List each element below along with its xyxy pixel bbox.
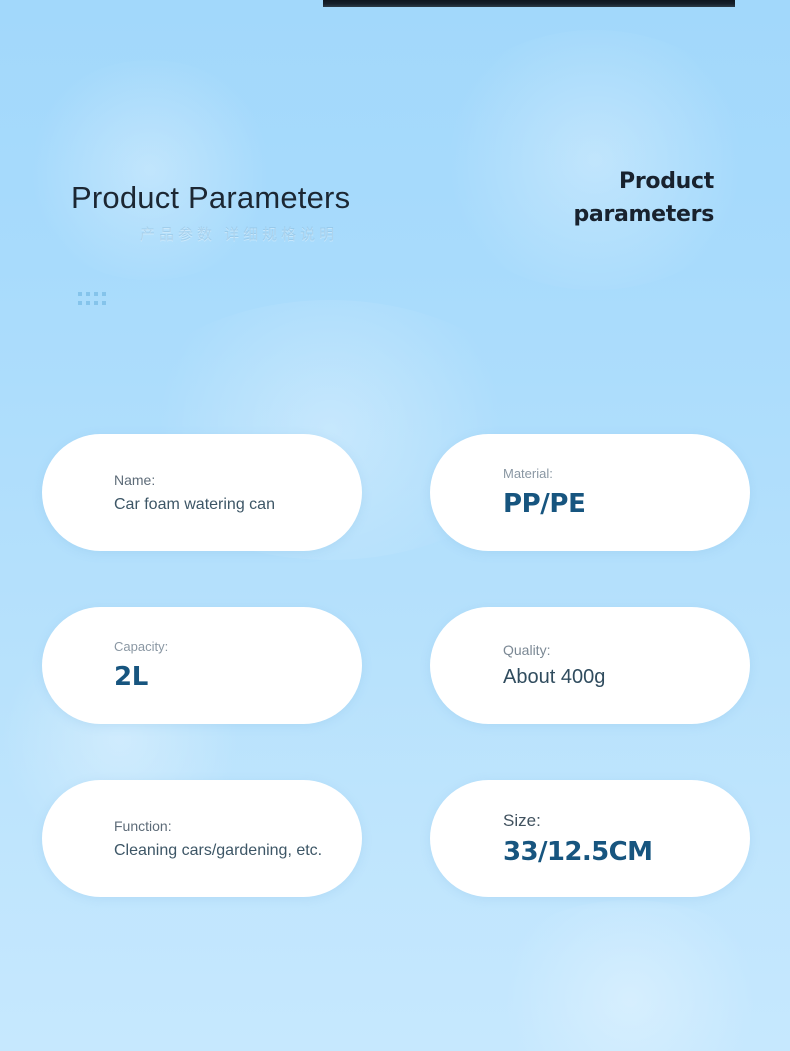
parameter-card: Size:33/12.5CM bbox=[430, 780, 750, 897]
section-subtitle-line-1: Product bbox=[619, 169, 714, 194]
parameter-label: Material: bbox=[503, 466, 750, 481]
section-subtitle: Product parameters bbox=[454, 166, 714, 231]
parameter-label: Name: bbox=[114, 472, 362, 488]
parameter-value: 33/12.5CM bbox=[503, 837, 750, 867]
background-blob bbox=[20, 60, 280, 280]
watermark-text: 产品参数 详细规格说明 bbox=[140, 223, 338, 244]
parameter-value: Cleaning cars/gardening, etc. bbox=[114, 842, 362, 860]
parameter-card: Name:Car foam watering can bbox=[42, 434, 362, 551]
parameter-label: Size: bbox=[503, 811, 750, 831]
parameter-card-grid: Name:Car foam watering canMaterial:PP/PE… bbox=[42, 434, 750, 897]
parameter-value: PP/PE bbox=[503, 489, 750, 519]
parameter-value: About 400g bbox=[503, 666, 750, 689]
parameter-card: Material:PP/PE bbox=[430, 434, 750, 551]
background-blob bbox=[430, 30, 760, 290]
previous-section-edge bbox=[323, 0, 735, 7]
parameter-card: Capacity:2L bbox=[42, 607, 362, 724]
background-blob bbox=[480, 900, 780, 1051]
parameter-value: Car foam watering can bbox=[114, 496, 362, 514]
parameter-card: Function:Cleaning cars/gardening, etc. bbox=[42, 780, 362, 897]
page-title: Product Parameters bbox=[71, 182, 350, 213]
parameter-label: Function: bbox=[114, 818, 362, 834]
parameter-value: 2L bbox=[114, 662, 362, 692]
parameter-card: Quality:About 400g bbox=[430, 607, 750, 724]
parameter-label: Capacity: bbox=[114, 639, 362, 654]
parameter-label: Quality: bbox=[503, 642, 750, 658]
section-subtitle-line-2: parameters bbox=[573, 202, 714, 227]
product-parameters-page: Product Parameters 产品参数 详细规格说明 Product p… bbox=[0, 0, 790, 1051]
dot-grid-icon bbox=[78, 292, 108, 307]
